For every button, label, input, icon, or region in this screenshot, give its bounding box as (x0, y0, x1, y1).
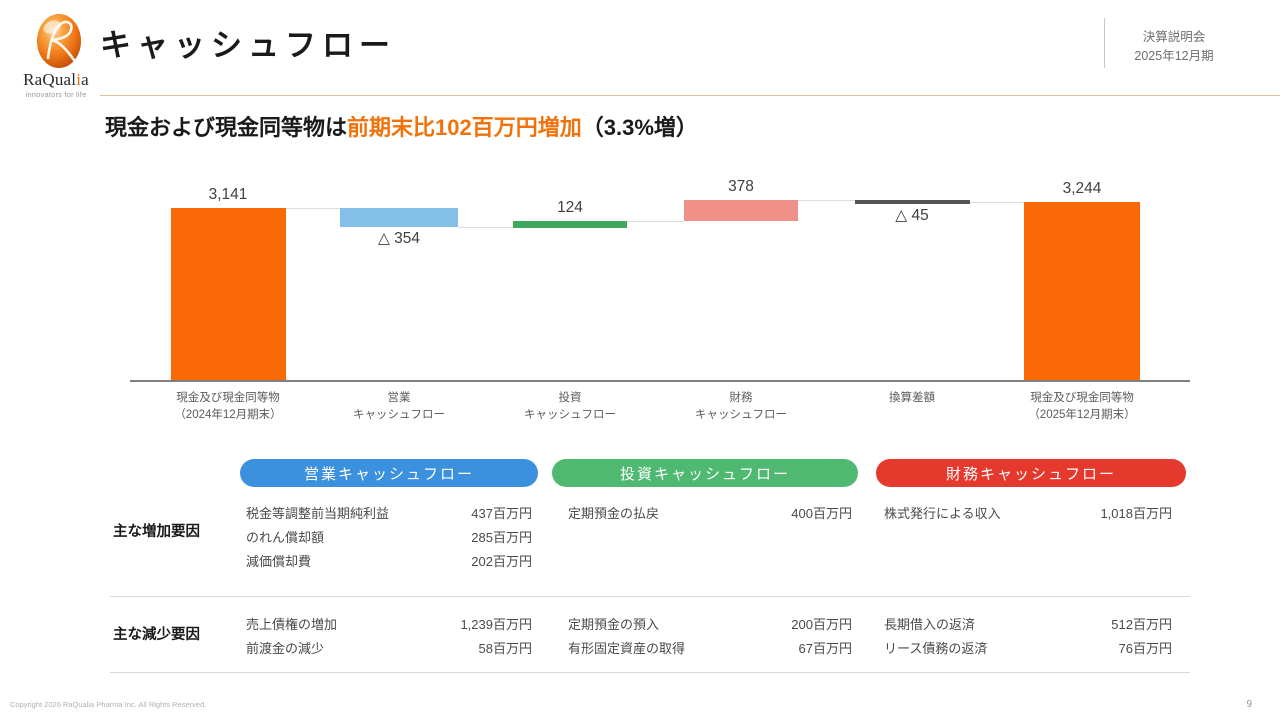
page-title: キャッシュフロー (100, 20, 396, 65)
pill-operating[interactable]: 営業キャッシュフロー (240, 459, 538, 487)
decrease-financing-name-2: リース債務の返済 (884, 638, 987, 657)
header-rule (100, 95, 1280, 96)
chart-bar-value-2: △ 354 (329, 229, 469, 248)
chart-connector-2 (458, 227, 513, 228)
header-meta-line2: 2025年12月期 (1094, 47, 1254, 66)
decrease-investing-name-1: 定期預金の預入 (568, 614, 659, 633)
chart-connector-5 (970, 202, 1024, 203)
raqualia-sphere-logo-icon (34, 12, 84, 70)
brand-wordmark-a: RaQual (23, 70, 76, 89)
chart-category-label-line1-6: 現金及び現金同等物 (972, 390, 1192, 407)
chart-bar-value-6: 3,244 (1012, 180, 1152, 198)
chart-bar-value-1: 3,141 (158, 186, 298, 204)
increase-operating-name-3: 減価償却費 (246, 551, 311, 570)
chart-bar-4 (684, 200, 798, 221)
headline: 現金および現金同等物は前期末比102百万円増加（3.3%増） (105, 110, 698, 142)
decrease-operating-value-1: 1,239百万円 (372, 614, 532, 633)
increase-investing-value-1: 400百万円 (692, 503, 852, 522)
chart-baseline (130, 380, 1190, 382)
increase-operating-value-2: 285百万円 (372, 527, 532, 546)
headline-accent: 前期末比102百万円増加 (347, 115, 582, 140)
decrease-financing-name-1: 長期借入の返済 (884, 614, 975, 633)
decrease-operating-name-1: 売上債権の増加 (246, 614, 337, 633)
decrease-row-label: 主な減少要因 (113, 623, 200, 644)
chart-bar-3 (513, 221, 627, 228)
pill-investing[interactable]: 投資キャッシュフロー (552, 459, 858, 487)
table-divider-top (110, 596, 1190, 597)
chart-bar-value-4: 378 (671, 178, 811, 196)
brand-logo: RaQualia innovators for life (10, 12, 102, 100)
increase-financing-value-1: 1,018百万円 (1012, 503, 1172, 522)
headline-suffix: （3.3%増） (582, 115, 698, 140)
increase-investing-name-1: 定期預金の払戻 (568, 503, 659, 522)
chart-category-label-line2-4: キャッシュフロー (631, 407, 851, 424)
copyright-text: Copyright 2026 RaQualia Pharma Inc. All … (10, 700, 206, 709)
table-divider-bottom (110, 672, 1190, 673)
increase-operating-value-1: 437百万円 (372, 503, 532, 522)
chart-bar-value-5: △ 45 (842, 206, 982, 225)
chart-category-6: 現金及び現金同等物（2025年12月期末） (972, 390, 1192, 423)
chart-bar-6 (1024, 202, 1140, 380)
chart-connector-3 (627, 221, 684, 222)
chart-bar-5 (855, 200, 970, 204)
chart-bar-1 (171, 208, 286, 380)
decrease-operating-value-2: 58百万円 (372, 638, 532, 657)
decrease-financing-value-2: 76百万円 (1012, 638, 1172, 657)
brand-tagline: innovators for life (10, 90, 102, 99)
chart-bar-2 (340, 208, 458, 227)
increase-row-label: 主な増加要因 (113, 520, 200, 541)
decrease-investing-value-1: 200百万円 (692, 614, 852, 633)
chart-connector-1 (286, 208, 340, 209)
increase-operating-value-3: 202百万円 (372, 551, 532, 570)
chart-category-labels: 現金及び現金同等物（2024年12月期末）営業キャッシュフロー投資キャッシュフロ… (0, 390, 1280, 430)
slide-header: RaQualia innovators for life キャッシュフロー 決算… (0, 0, 1280, 100)
increase-operating-name-2: のれん償却額 (246, 527, 324, 546)
chart-bar-value-3: 124 (500, 199, 640, 217)
decrease-investing-name-2: 有形固定資産の取得 (568, 638, 685, 657)
increase-operating-name-1: 税金等調整前当期純利益 (246, 503, 389, 522)
header-meta: 決算説明会 2025年12月期 (1094, 28, 1254, 66)
decrease-operating-name-2: 前渡金の減少 (246, 638, 324, 657)
pill-financing[interactable]: 財務キャッシュフロー (876, 459, 1186, 487)
decrease-financing-value-1: 512百万円 (1012, 614, 1172, 633)
brand-wordmark-b: a (81, 70, 89, 89)
headline-prefix: 現金および現金同等物は (105, 115, 347, 140)
page-number: 9 (1246, 699, 1252, 710)
header-meta-line1: 決算説明会 (1094, 28, 1254, 47)
chart-connector-4 (798, 200, 855, 201)
decrease-investing-value-2: 67百万円 (692, 638, 852, 657)
increase-financing-name-1: 株式発行による収入 (884, 503, 1001, 522)
chart-category-label-line2-6: （2025年12月期末） (972, 407, 1192, 424)
brand-wordmark: RaQualia (10, 70, 102, 90)
